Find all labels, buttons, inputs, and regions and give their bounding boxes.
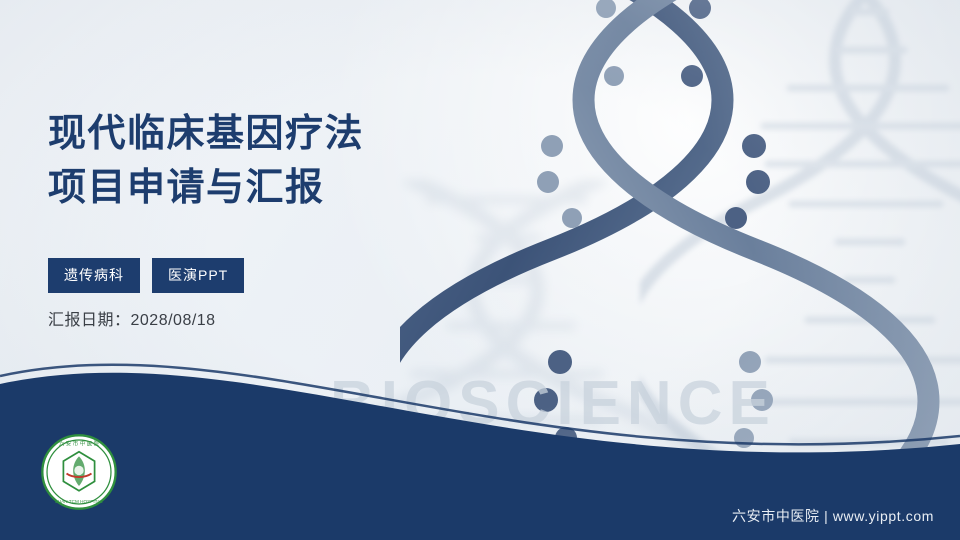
svg-text:LUAN TCM HOSPITAL: LUAN TCM HOSPITAL	[55, 499, 103, 504]
title-line-2: 项目申请与汇报	[48, 162, 364, 216]
page-title: 现代临床基因疗法 项目申请与汇报	[48, 108, 364, 216]
report-date: 汇报日期：2028/08/18	[48, 306, 216, 330]
tag-department[interactable]: 遗传病科	[48, 258, 140, 293]
hospital-logo: 六 安 市 中 医 院 LUAN TCM HOSPITAL	[40, 433, 118, 511]
presentation-title-slide: BIOSCIENCE 现代临床基因疗法 项目申请与汇报 遗传病科 医演PPT 汇…	[0, 0, 960, 540]
tag-group: 遗传病科 医演PPT	[48, 258, 244, 293]
footer-text: 六安市中医院 | www.yippt.com	[732, 506, 934, 526]
tag-brand[interactable]: 医演PPT	[152, 258, 244, 293]
title-line-1: 现代临床基因疗法	[48, 108, 364, 162]
